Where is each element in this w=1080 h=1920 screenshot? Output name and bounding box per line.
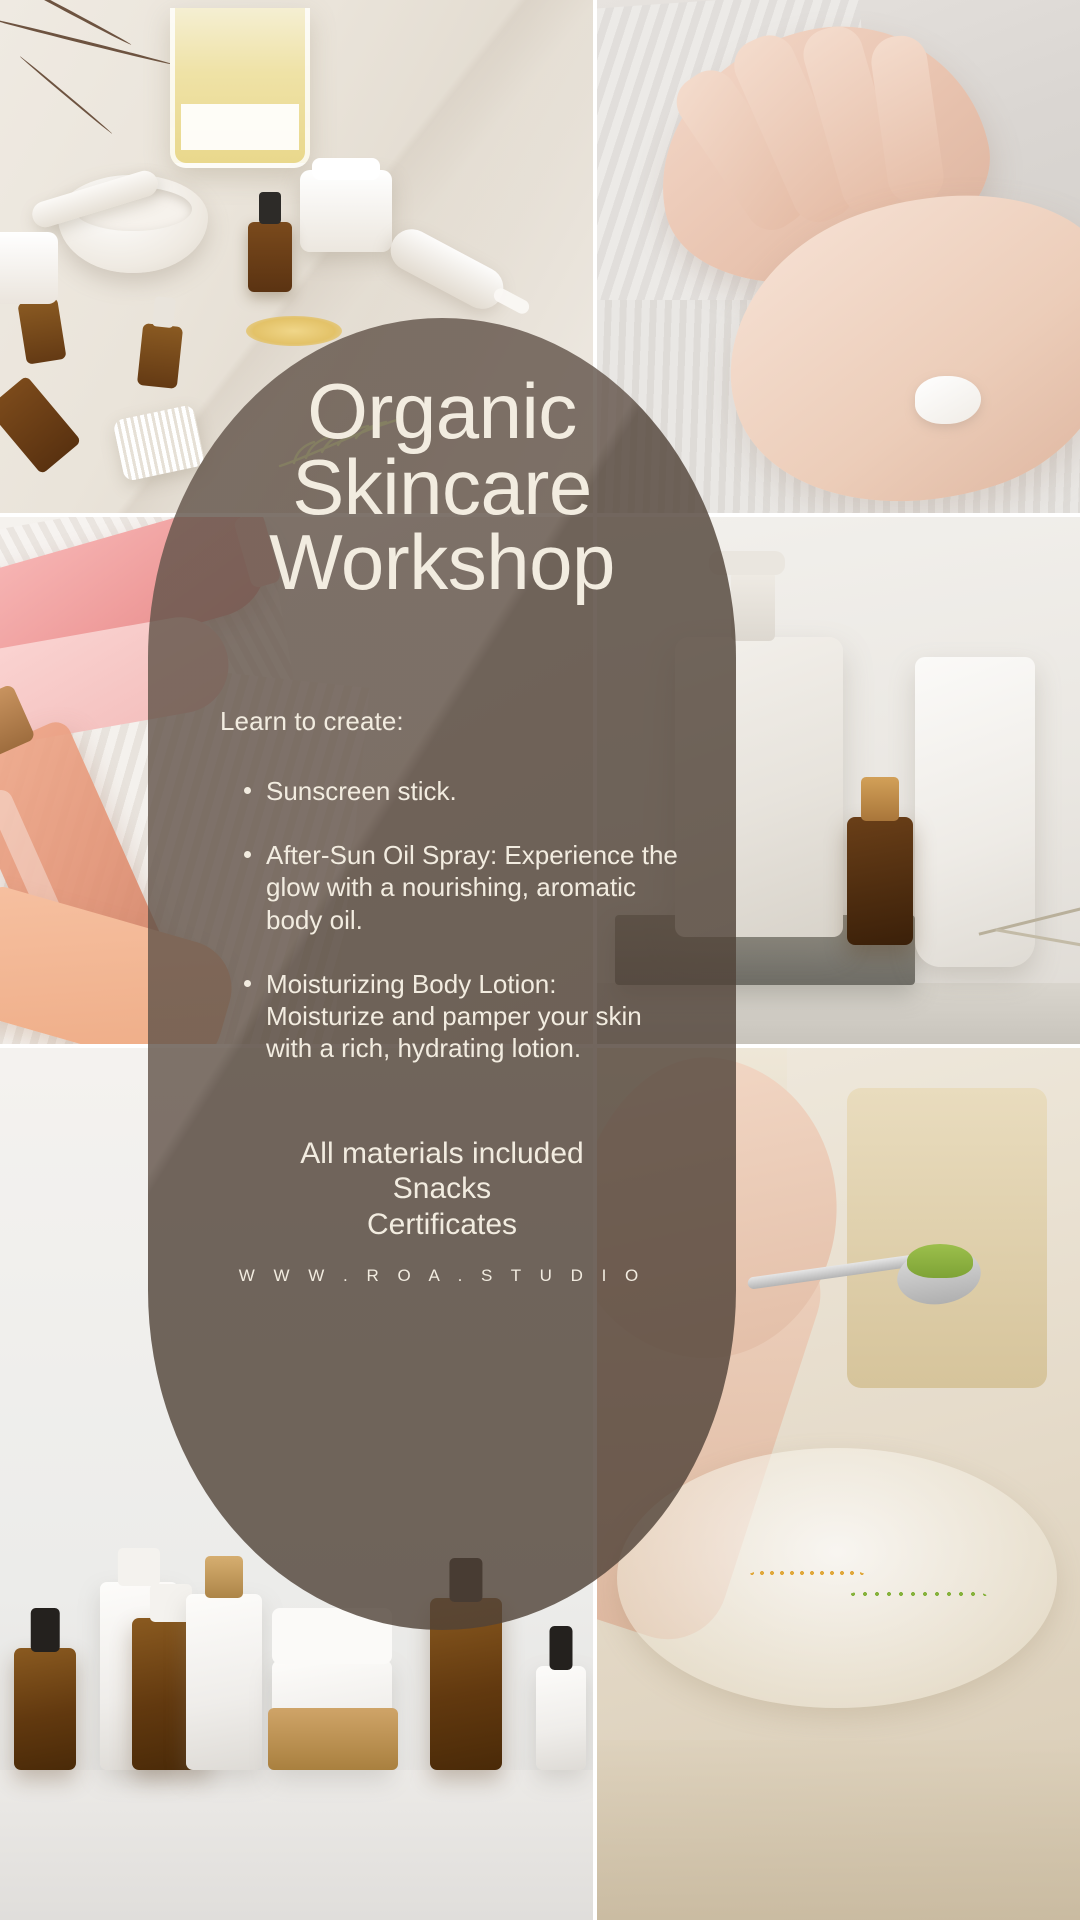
amber-dropper-bottle: [17, 297, 66, 364]
poster-canvas: Organic Skincare Workshop Learn to creat…: [0, 0, 1080, 1920]
white-jar-edge: [0, 232, 58, 304]
list-item: Sunscreen stick.: [220, 775, 680, 807]
inclusion-line-2: Snacks: [148, 1171, 736, 1206]
title-line-1: Organic: [148, 374, 736, 450]
cream-tube: [915, 657, 1035, 967]
branch-decor: [19, 56, 112, 135]
list-item: Moisturizing Body Lotion: Moisturize and…: [220, 968, 680, 1065]
inclusion-line-3: Certificates: [148, 1207, 736, 1242]
workshop-details: Learn to create: Sunscreen stick. After-…: [220, 706, 680, 1097]
amber-bottle-tipped: [0, 375, 82, 474]
branch-decor: [0, 17, 174, 66]
learn-to-create-label: Learn to create:: [220, 706, 680, 737]
workshop-item-list: Sunscreen stick. After-Sun Oil Spray: Ex…: [220, 775, 680, 1065]
list-item: After-Sun Oil Spray: Experience the glow…: [220, 839, 680, 936]
oil-beaker: [170, 8, 310, 168]
glass-pipette: [383, 222, 510, 316]
amber-dropper-bottle: [248, 222, 292, 292]
cream-jar: [300, 170, 392, 252]
title-line-2: Skincare: [148, 450, 736, 526]
spice-sprinkle: [747, 1568, 867, 1584]
inclusion-line-1: All materials included: [148, 1136, 736, 1171]
page-title: Organic Skincare Workshop: [148, 374, 736, 601]
table-surface: [0, 1770, 593, 1920]
inclusions-block: All materials included Snacks Certificat…: [148, 1136, 736, 1242]
spice-sprinkle: [847, 1588, 987, 1604]
background-jar: [847, 1088, 1047, 1388]
gold-jar: [268, 1708, 398, 1770]
poster-content: Organic Skincare Workshop Learn to creat…: [148, 318, 736, 1630]
foreground-shadow: [597, 1740, 1080, 1920]
amber-dropper-bottle: [847, 817, 913, 945]
website-url[interactable]: W W W . R O A . S T U D I O: [148, 1266, 736, 1286]
small-dropper-bottle: [536, 1666, 586, 1770]
title-line-3: Workshop: [148, 525, 736, 601]
amber-dropper-bottle: [14, 1648, 76, 1770]
green-powder: [907, 1244, 973, 1278]
